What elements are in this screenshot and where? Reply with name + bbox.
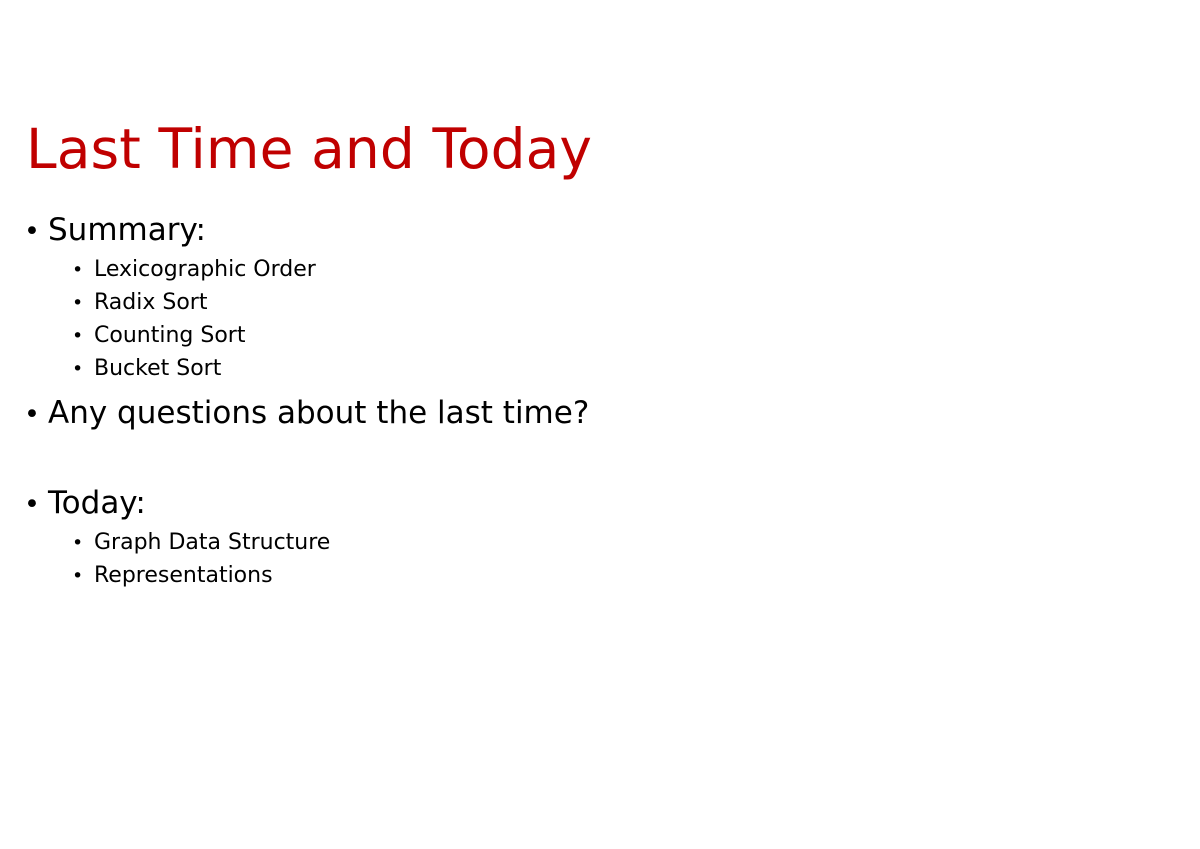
bullet-marker-icon: • xyxy=(72,527,94,560)
bullet-item-today: • Today: xyxy=(0,481,1160,526)
slide-canvas: Last Time and Today • Summary: • Lexicog… xyxy=(0,0,1200,849)
empty-line-spacer xyxy=(0,436,1160,481)
bullet-item-bucket-sort: • Bucket Sort xyxy=(0,352,1160,385)
bullet-text: Representations xyxy=(94,559,273,592)
bullet-text: Summary: xyxy=(48,208,206,253)
bullet-text: Any questions about the last time? xyxy=(48,391,589,436)
bullet-item-summary: • Summary: xyxy=(0,208,1160,253)
bullet-item-counting-sort: • Counting Sort xyxy=(0,319,1160,352)
bullet-marker-icon: • xyxy=(72,353,94,386)
bullet-text: Today: xyxy=(48,481,146,526)
bullet-marker-icon: • xyxy=(72,254,94,287)
bullet-marker-icon: • xyxy=(72,287,94,320)
bullet-text: Radix Sort xyxy=(94,286,207,319)
slide-title: Last Time and Today xyxy=(26,118,1146,180)
bullet-item-radix-sort: • Radix Sort xyxy=(0,286,1160,319)
slide-body-list: • Summary: • Lexicographic Order • Radix… xyxy=(0,208,1160,592)
bullet-item-any-questions: • Any questions about the last time? xyxy=(0,391,1160,436)
bullet-marker-icon: • xyxy=(24,209,48,254)
bullet-text: Counting Sort xyxy=(94,319,245,352)
bullet-marker-icon: • xyxy=(72,320,94,353)
bullet-text: Lexicographic Order xyxy=(94,253,316,286)
bullet-marker-icon: • xyxy=(24,482,48,527)
bullet-marker-icon: • xyxy=(72,560,94,593)
bullet-item-representations: • Representations xyxy=(0,559,1160,592)
bullet-item-graph-data-structure: • Graph Data Structure xyxy=(0,526,1160,559)
bullet-marker-icon: • xyxy=(24,392,48,437)
bullet-text: Bucket Sort xyxy=(94,352,221,385)
bullet-text: Graph Data Structure xyxy=(94,526,330,559)
bullet-item-lexicographic-order: • Lexicographic Order xyxy=(0,253,1160,286)
